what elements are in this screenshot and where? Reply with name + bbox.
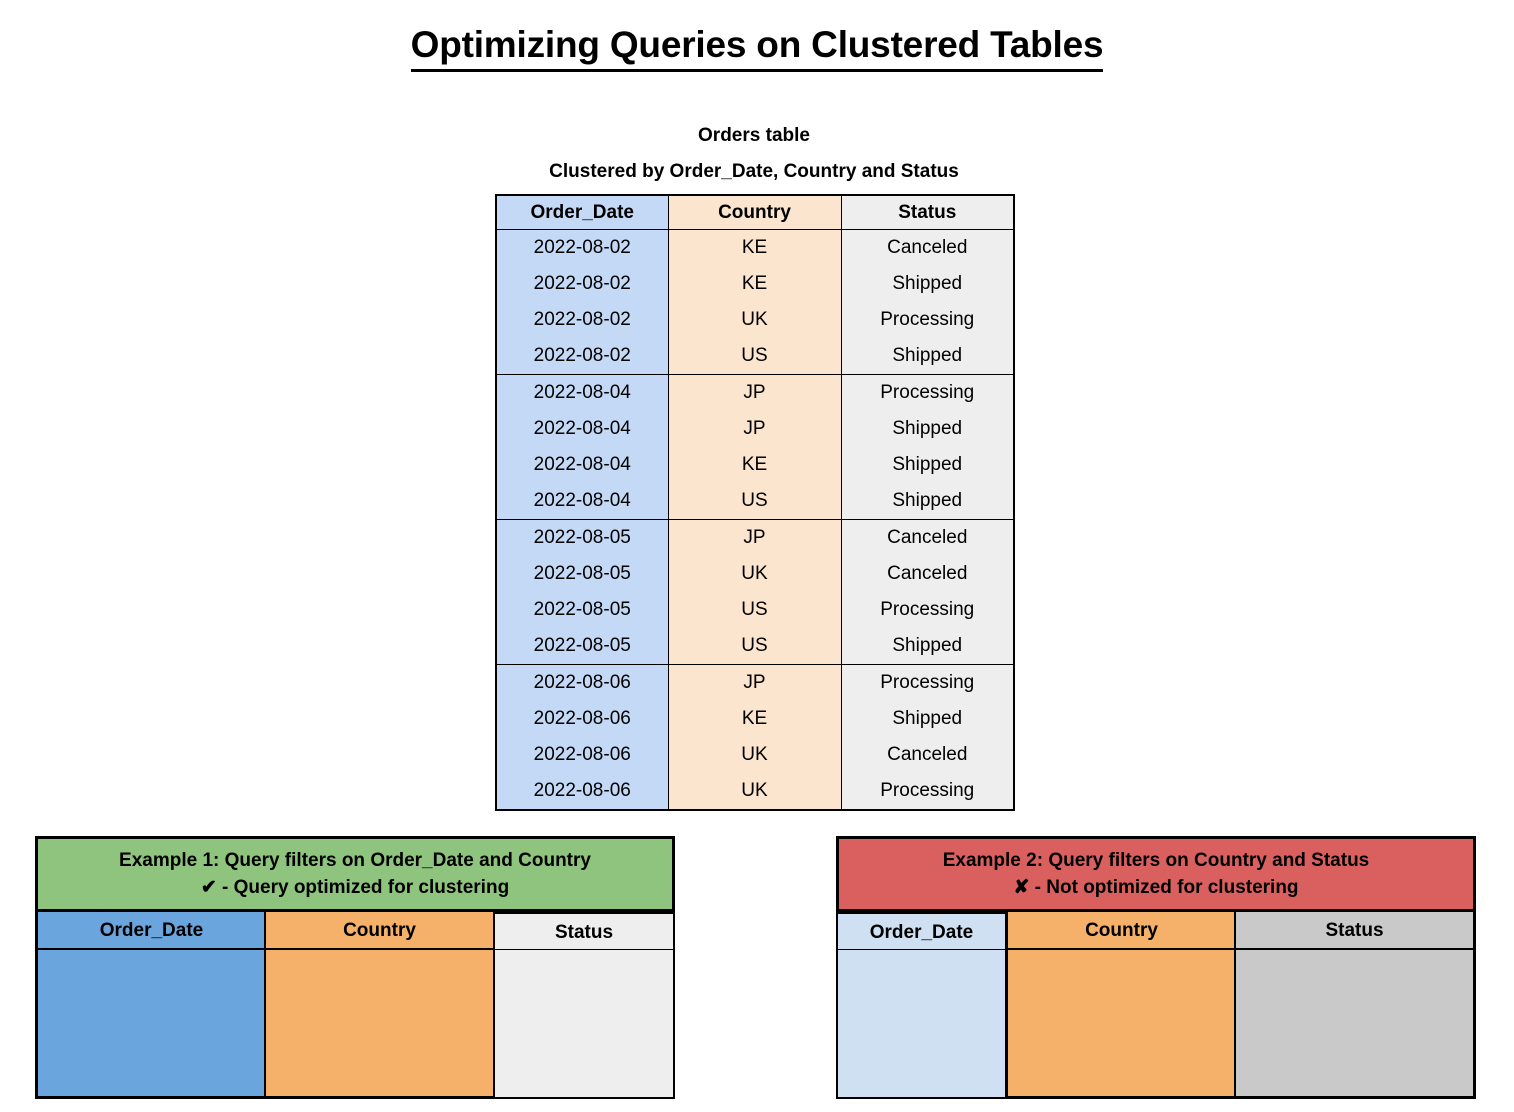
table-row: 2022-08-04USShipped <box>496 483 1014 520</box>
example-1-header: Example 1: Query filters on Order_Date a… <box>35 836 675 912</box>
example-2-column-country: Country <box>1005 912 1237 1099</box>
table-row: 2022-08-06UKCanceled <box>496 737 1014 773</box>
orders-table-subcaption: Clustered by Order_Date, Country and Sta… <box>495 160 1013 184</box>
cell-country: JP <box>668 665 841 702</box>
table-row: 2022-08-06JPProcessing <box>496 665 1014 702</box>
example-2-column-order-date: Order_Date <box>836 912 1008 1099</box>
page-title-text: Optimizing Queries on Clustered Tables <box>411 24 1104 72</box>
cell-order-date: 2022-08-04 <box>496 447 668 483</box>
cell-order-date: 2022-08-04 <box>496 375 668 412</box>
example-2-column-body-country <box>1005 950 1237 1099</box>
cell-status: Shipped <box>841 338 1014 375</box>
example-2-panel: Example 2: Query filters on Country and … <box>836 836 1476 1099</box>
example-1-column-header-status: Status <box>493 912 675 950</box>
cell-order-date: 2022-08-02 <box>496 230 668 267</box>
cell-country: UK <box>668 737 841 773</box>
example-2-header-line-2: ✘ - Not optimized for clustering <box>843 874 1469 901</box>
cell-status: Shipped <box>841 483 1014 520</box>
table-row: 2022-08-02USShipped <box>496 338 1014 375</box>
example-1-column-body-status <box>493 950 675 1099</box>
orders-table: Order_Date Country Status 2022-08-02KECa… <box>495 194 1015 811</box>
table-row: 2022-08-04JPShipped <box>496 411 1014 447</box>
example-2-column-header-order-date: Order_Date <box>836 912 1008 950</box>
cell-order-date: 2022-08-05 <box>496 556 668 592</box>
cell-order-date: 2022-08-05 <box>496 520 668 557</box>
cell-country: JP <box>668 520 841 557</box>
example-2-column-header-country: Country <box>1005 912 1237 950</box>
table-row: 2022-08-05JPCanceled <box>496 520 1014 557</box>
cell-order-date: 2022-08-06 <box>496 665 668 702</box>
orders-table-header-row: Order_Date Country Status <box>496 195 1014 230</box>
example-2-body: Order_Date Country Status <box>836 912 1476 1099</box>
cell-status: Processing <box>841 665 1014 702</box>
cell-country: KE <box>668 701 841 737</box>
example-1-body: Order_Date Country Status <box>35 912 675 1099</box>
example-2-column-status: Status <box>1234 912 1476 1099</box>
table-row: 2022-08-06KEShipped <box>496 701 1014 737</box>
cell-country: KE <box>668 447 841 483</box>
cell-country: KE <box>668 266 841 302</box>
example-1-column-header-order-date: Order_Date <box>35 912 267 950</box>
example-2-column-header-status: Status <box>1234 912 1476 950</box>
cell-status: Processing <box>841 773 1014 810</box>
cell-order-date: 2022-08-02 <box>496 338 668 375</box>
example-1-header-line-1: Example 1: Query filters on Order_Date a… <box>42 847 668 874</box>
example-2-header: Example 2: Query filters on Country and … <box>836 836 1476 912</box>
example-1-header-line-2: ✔ - Query optimized for clustering <box>42 874 668 901</box>
cell-status: Canceled <box>841 737 1014 773</box>
cell-country: UK <box>668 556 841 592</box>
example-1-panel: Example 1: Query filters on Order_Date a… <box>35 836 675 1099</box>
page-title: Optimizing Queries on Clustered Tables <box>0 24 1514 72</box>
cell-country: JP <box>668 375 841 412</box>
example-2-column-body-order-date <box>836 950 1008 1099</box>
cell-order-date: 2022-08-06 <box>496 737 668 773</box>
cell-status: Canceled <box>841 520 1014 557</box>
table-row: 2022-08-05USShipped <box>496 628 1014 665</box>
cell-order-date: 2022-08-04 <box>496 483 668 520</box>
table-row: 2022-08-02KEShipped <box>496 266 1014 302</box>
orders-table-block: Orders table Clustered by Order_Date, Co… <box>495 124 1013 811</box>
cell-order-date: 2022-08-05 <box>496 592 668 628</box>
example-1-column-country: Country <box>264 912 496 1099</box>
cell-country: US <box>668 628 841 665</box>
cell-order-date: 2022-08-02 <box>496 302 668 338</box>
cell-order-date: 2022-08-06 <box>496 773 668 810</box>
table-row: 2022-08-04KEShipped <box>496 447 1014 483</box>
table-row: 2022-08-04JPProcessing <box>496 375 1014 412</box>
cell-status: Processing <box>841 375 1014 412</box>
column-header-status: Status <box>841 195 1014 230</box>
cell-status: Canceled <box>841 230 1014 267</box>
column-header-country: Country <box>668 195 841 230</box>
cell-order-date: 2022-08-02 <box>496 266 668 302</box>
example-1-column-order-date: Order_Date <box>35 912 267 1099</box>
table-row: 2022-08-02UKProcessing <box>496 302 1014 338</box>
table-row: 2022-08-06UKProcessing <box>496 773 1014 810</box>
cell-country: US <box>668 592 841 628</box>
example-1-column-header-country: Country <box>264 912 496 950</box>
cell-status: Shipped <box>841 628 1014 665</box>
cell-country: US <box>668 338 841 375</box>
table-row: 2022-08-05UKCanceled <box>496 556 1014 592</box>
cell-status: Shipped <box>841 447 1014 483</box>
cell-country: KE <box>668 230 841 267</box>
cell-order-date: 2022-08-06 <box>496 701 668 737</box>
table-row: 2022-08-05USProcessing <box>496 592 1014 628</box>
example-1-column-body-country <box>264 950 496 1099</box>
cell-status: Processing <box>841 592 1014 628</box>
cell-status: Shipped <box>841 266 1014 302</box>
example-2-header-line-1: Example 2: Query filters on Country and … <box>843 847 1469 874</box>
example-1-column-body-order-date <box>35 950 267 1099</box>
example-2-column-body-status <box>1234 950 1476 1099</box>
cell-status: Processing <box>841 302 1014 338</box>
cell-country: US <box>668 483 841 520</box>
cell-status: Shipped <box>841 411 1014 447</box>
cell-order-date: 2022-08-04 <box>496 411 668 447</box>
orders-table-body: 2022-08-02KECanceled2022-08-02KEShipped2… <box>496 230 1014 811</box>
cell-country: UK <box>668 302 841 338</box>
cell-status: Shipped <box>841 701 1014 737</box>
table-row: 2022-08-02KECanceled <box>496 230 1014 267</box>
example-1-column-status: Status <box>493 912 675 1099</box>
orders-table-caption: Orders table <box>495 124 1013 148</box>
cell-order-date: 2022-08-05 <box>496 628 668 665</box>
cell-country: JP <box>668 411 841 447</box>
cell-status: Canceled <box>841 556 1014 592</box>
column-header-order-date: Order_Date <box>496 195 668 230</box>
cell-country: UK <box>668 773 841 810</box>
